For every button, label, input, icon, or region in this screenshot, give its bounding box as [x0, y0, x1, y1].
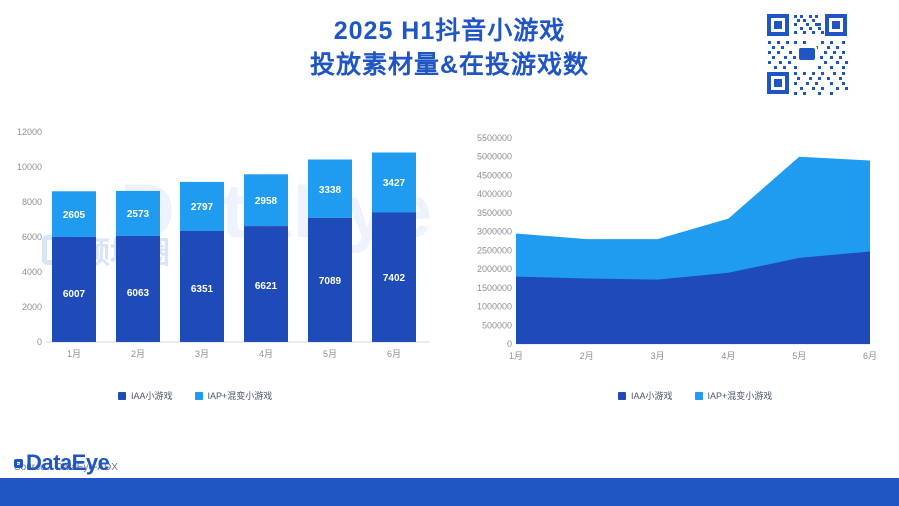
bar-group-mar: 2797 6351 — [180, 182, 224, 342]
bar-group-jun: 3427 7402 — [372, 153, 416, 343]
bar-value-iap: 2573 — [127, 209, 150, 220]
x-tick-label: 4月 — [721, 351, 735, 361]
bar-value-iap: 2797 — [191, 202, 214, 213]
x-tick-label: 1月 — [67, 349, 81, 359]
bar-group-apr: 2958 6621 — [244, 174, 288, 342]
y-tick-label: 4500000 — [477, 171, 512, 181]
y-tick-label: 0 — [37, 337, 42, 347]
legend-item-iap[interactable]: IAP+混变小游戏 — [695, 389, 773, 402]
brand-logo: DataEye — [14, 450, 109, 476]
x-tick-label: 3月 — [651, 351, 665, 361]
y-tick-label: 1500000 — [477, 283, 512, 293]
legend-swatch-icon — [195, 392, 203, 400]
bar-value-iap: 2605 — [63, 210, 86, 221]
bar-value-iap: 2958 — [255, 196, 278, 207]
x-tick-label: 4月 — [259, 349, 273, 359]
y-tick-label: 2500000 — [477, 245, 512, 255]
area-chart-legend: IAA小游戏 IAP+混变小游戏 — [618, 389, 772, 402]
legend-label: IAP+混变小游戏 — [208, 389, 273, 402]
legend-swatch-icon — [618, 392, 626, 400]
y-tick-label: 2000000 — [477, 264, 512, 274]
bar-value-iap: 3338 — [319, 185, 342, 196]
legend-item-iaa[interactable]: IAA小游戏 — [618, 389, 673, 402]
y-tick-label: 2000 — [22, 302, 42, 312]
bar-chart-y-axis: 12000 10000 8000 6000 4000 2000 0 — [17, 127, 42, 347]
area-chart-x-axis: 1月 2月 3月 4月 5月 6月 — [509, 351, 877, 361]
bar-chart-legend: IAA小游戏 IAP+混变小游戏 — [118, 389, 272, 402]
brand-name: DataEye — [26, 450, 109, 475]
bar-value-iaa: 7089 — [319, 276, 342, 287]
bar-value-iaa: 6351 — [191, 284, 214, 295]
footer-bar — [0, 478, 899, 506]
legend-item-iap[interactable]: IAP+混变小游戏 — [195, 389, 273, 402]
y-tick-label: 5000000 — [477, 152, 512, 162]
y-tick-label: 3500000 — [477, 208, 512, 218]
legend-label: IAP+混变小游戏 — [708, 389, 773, 402]
y-tick-label: 8000 — [22, 197, 42, 207]
page-title-line1: 2025 H1抖音小游戏 — [334, 17, 566, 45]
y-tick-label: 4000 — [22, 267, 42, 277]
brand-square-icon — [14, 459, 23, 468]
y-tick-label: 12000 — [17, 127, 42, 137]
bar-value-iaa: 6063 — [127, 288, 150, 299]
bar-value-iaa: 6621 — [255, 281, 278, 292]
bar-chart-x-axis: 1月 2月 3月 4月 5月 6月 — [67, 349, 401, 359]
bar-value-iaa: 6007 — [63, 289, 86, 300]
legend-swatch-icon — [118, 392, 126, 400]
bar-chart: 12000 10000 8000 6000 4000 2000 0 2605 6… — [0, 122, 440, 382]
legend-label: IAA小游戏 — [131, 389, 173, 402]
bar-group-feb: 2573 6063 — [116, 191, 160, 342]
qr-code-icon — [763, 10, 851, 98]
x-tick-label: 6月 — [863, 351, 877, 361]
area-chart-y-axis: 5500000 5000000 4500000 4000000 3500000 … — [477, 133, 512, 349]
x-tick-label: 2月 — [580, 351, 594, 361]
x-tick-label: 1月 — [509, 351, 523, 361]
x-tick-label: 5月 — [323, 349, 337, 359]
legend-swatch-icon — [695, 392, 703, 400]
x-tick-label: 6月 — [387, 349, 401, 359]
bar-value-iap: 3427 — [383, 178, 406, 189]
y-tick-label: 500000 — [482, 320, 512, 330]
bar-group-jan: 2605 6007 — [52, 191, 96, 342]
bar-group-may: 3338 7089 — [308, 160, 352, 343]
area-chart: 5500000 5000000 4500000 4000000 3500000 … — [450, 122, 890, 382]
y-tick-label: 10000 — [17, 162, 42, 172]
y-tick-label: 4000000 — [477, 189, 512, 199]
y-tick-label: 6000 — [22, 232, 42, 242]
y-tick-label: 5500000 — [477, 133, 512, 143]
legend-item-iaa[interactable]: IAA小游戏 — [118, 389, 173, 402]
x-tick-label: 3月 — [195, 349, 209, 359]
x-tick-label: 2月 — [131, 349, 145, 359]
y-tick-label: 1000000 — [477, 302, 512, 312]
y-tick-label: 0 — [507, 339, 512, 349]
bar-value-iaa: 7402 — [383, 273, 406, 284]
legend-label: IAA小游戏 — [631, 389, 673, 402]
x-tick-label: 5月 — [792, 351, 806, 361]
y-tick-label: 3000000 — [477, 227, 512, 237]
